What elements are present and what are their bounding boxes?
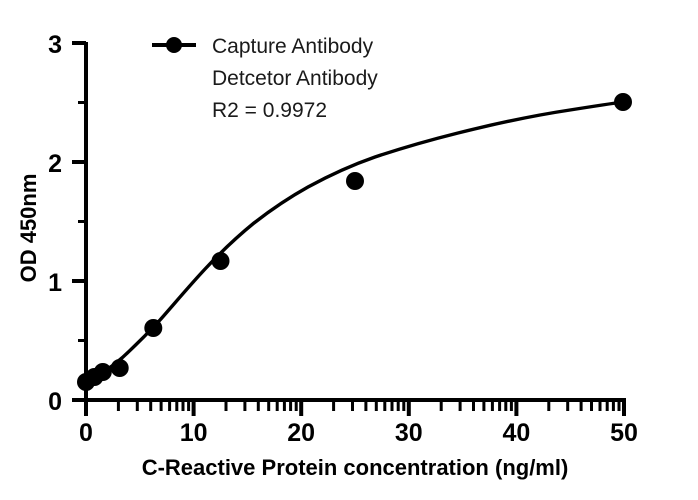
data-point — [144, 319, 162, 337]
data-point — [346, 172, 364, 190]
x-tick-label-50: 50 — [610, 419, 638, 447]
x-tick-label-0: 0 — [79, 419, 93, 447]
data-point — [614, 93, 632, 111]
y-tick-label-0: 0 — [48, 388, 62, 416]
legend-label-r-squared: R2 = 0.9972 — [212, 99, 327, 122]
y-tick-label-2: 2 — [48, 150, 62, 178]
data-point — [111, 359, 129, 377]
y-tick-label-3: 3 — [48, 31, 62, 59]
dose-response-curve-chart: 0 1 2 3 — [0, 0, 698, 500]
y-axis-title: OD 450nm — [16, 174, 41, 283]
legend-label-capture-antibody: Capture Antibody — [212, 35, 374, 58]
x-tick-label-10: 10 — [180, 419, 208, 447]
x-axis-title: C-Reactive Protein concentration (ng/ml) — [142, 455, 569, 480]
legend-marker-circle — [166, 37, 182, 53]
y-tick-label-1: 1 — [48, 269, 62, 297]
data-point — [94, 363, 112, 381]
x-tick-label-20: 20 — [287, 419, 315, 447]
data-point — [212, 252, 230, 270]
legend-label-detector-antibody: Detcetor Antibody — [212, 67, 378, 90]
x-tick-label-30: 30 — [395, 419, 423, 447]
x-tick-label-40: 40 — [502, 419, 530, 447]
chart-container: 0 1 2 3 — [0, 0, 698, 500]
